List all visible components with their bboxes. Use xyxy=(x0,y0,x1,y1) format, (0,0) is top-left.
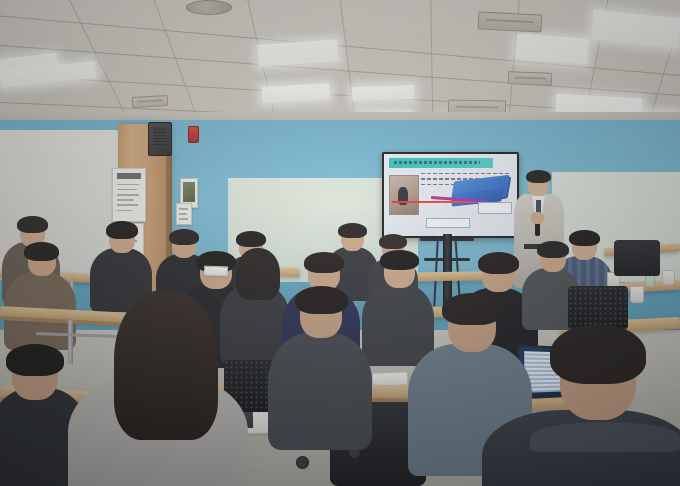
wall-poster xyxy=(112,168,146,222)
hood-collar xyxy=(530,422,680,452)
wall-speaker-icon xyxy=(148,122,172,156)
slide-title-bar xyxy=(389,158,493,168)
ceiling-light-panel xyxy=(515,34,589,65)
air-diffuser xyxy=(132,95,169,108)
air-diffuser xyxy=(508,71,552,86)
air-diffuser xyxy=(478,11,543,32)
slide-callout xyxy=(426,218,470,228)
slide-content xyxy=(384,154,517,236)
paper-note-2 xyxy=(204,266,228,277)
slide-photo xyxy=(389,175,419,215)
smoke-detector-icon xyxy=(186,0,232,15)
desk-leg xyxy=(68,320,73,364)
presenter-hair xyxy=(526,170,551,183)
slide-callout xyxy=(478,202,512,214)
presenter-hand xyxy=(531,212,544,224)
chair xyxy=(614,240,660,276)
ceiling-light-panel xyxy=(352,85,414,101)
seminar-room-photo xyxy=(0,0,680,486)
chair-caster xyxy=(296,456,309,469)
projection-screen[interactable] xyxy=(382,152,519,238)
wall-poster xyxy=(176,203,192,225)
paper-cup xyxy=(662,270,675,285)
paper-cup xyxy=(630,286,644,303)
slide-body xyxy=(389,170,511,231)
fire-alarm-icon xyxy=(188,126,199,143)
